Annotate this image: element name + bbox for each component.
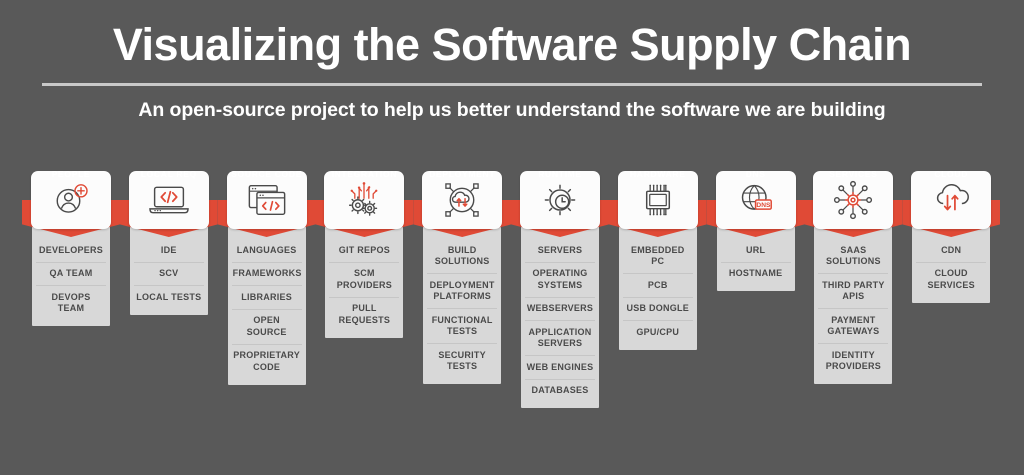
- list-item[interactable]: PROPRIETARY CODE: [232, 344, 302, 379]
- list-item[interactable]: LOCAL TESTS: [134, 285, 204, 309]
- infographic-root: Visualizing the Software Supply Chain An…: [0, 0, 1024, 475]
- gear-clock-icon: [540, 180, 580, 220]
- columns-container: DEVELOPERSQA TEAMDEVOPS TEAMPEOPLE IDESC…: [0, 160, 1024, 475]
- stage-icon-card: [813, 171, 893, 229]
- stage-icon-card: [520, 171, 600, 229]
- list-item[interactable]: SCM PROVIDERS: [329, 262, 399, 297]
- list-item[interactable]: IDE: [134, 239, 204, 262]
- list-item[interactable]: QA TEAM: [36, 262, 106, 286]
- stage-icon-card: [422, 171, 502, 229]
- stage-item-panel: SERVERSOPERATING SYSTEMSWEBSERVERSAPPLIC…: [521, 207, 599, 408]
- list-item[interactable]: IDENTITY PROVIDERS: [818, 343, 888, 378]
- cloud-deploy-icon: [441, 180, 483, 220]
- list-item[interactable]: DEVELOPERS: [36, 239, 106, 262]
- list-item[interactable]: URL: [721, 239, 791, 262]
- page-subtitle: An open-source project to help us better…: [0, 99, 1024, 122]
- list-item[interactable]: PCB: [623, 273, 693, 297]
- list-item[interactable]: LIBRARIES: [232, 285, 302, 309]
- list-item[interactable]: FUNCTIONAL TESTS: [427, 308, 497, 343]
- list-item[interactable]: GIT REPOS: [329, 239, 399, 262]
- list-item[interactable]: WEBSERVERS: [525, 297, 595, 321]
- list-item[interactable]: OPERATING SYSTEMS: [525, 262, 595, 297]
- list-item[interactable]: LANGUAGES: [232, 239, 302, 262]
- svg-text:DNS: DNS: [756, 202, 771, 209]
- stage-icon-card: [129, 171, 209, 229]
- cloud-transfer-icon: [930, 180, 972, 220]
- list-item[interactable]: BUILD SOLUTIONS: [427, 239, 497, 273]
- list-item[interactable]: WEB ENGINES: [525, 355, 595, 379]
- gears-circuit-icon: [343, 179, 385, 221]
- stage-icon-card: [324, 171, 404, 229]
- laptop-code-icon: [147, 182, 191, 218]
- stage-icon-card: [911, 171, 991, 229]
- header: Visualizing the Software Supply Chain An…: [0, 0, 1024, 122]
- list-item[interactable]: PAYMENT GATEWAYS: [818, 308, 888, 343]
- list-item[interactable]: CDN: [916, 239, 986, 262]
- stage-item-list: SERVERSOPERATING SYSTEMSWEBSERVERSAPPLIC…: [521, 207, 599, 408]
- add-person-icon: [51, 180, 91, 220]
- list-item[interactable]: SAAS SOLUTIONS: [818, 239, 888, 273]
- list-item[interactable]: EMBEDDED PC: [623, 239, 693, 273]
- title-divider: [42, 83, 982, 86]
- list-item[interactable]: SCV: [134, 262, 204, 286]
- stage-icon-card: [31, 171, 111, 229]
- code-window-icon: [246, 181, 288, 219]
- list-item[interactable]: THIRD PARTY APIS: [818, 273, 888, 308]
- list-item[interactable]: HOSTNAME: [721, 262, 791, 286]
- list-item[interactable]: DEPLOYMENT PLATFORMS: [427, 273, 497, 308]
- list-item[interactable]: DEVOPS TEAM: [36, 285, 106, 320]
- stage-icon-card: [227, 171, 307, 229]
- list-item[interactable]: CLOUD SERVICES: [916, 262, 986, 297]
- list-item[interactable]: APPLICATION SERVERS: [525, 320, 595, 355]
- list-item[interactable]: SERVERS: [525, 239, 595, 262]
- list-item[interactable]: USB DONGLE: [623, 297, 693, 321]
- page-title: Visualizing the Software Supply Chain: [0, 22, 1024, 67]
- globe-dns-icon: DNS: [735, 180, 777, 220]
- list-item[interactable]: FRAMEWORKS: [232, 262, 302, 286]
- stage-icon-card: DNS: [716, 171, 796, 229]
- list-item[interactable]: DATABASES: [525, 379, 595, 403]
- network-gear-icon: [832, 179, 874, 221]
- list-item[interactable]: SECURITY TESTS: [427, 343, 497, 378]
- list-item[interactable]: PULL REQUESTS: [329, 297, 399, 332]
- stage-icon-card: [618, 171, 698, 229]
- chip-icon: [637, 180, 679, 220]
- list-item[interactable]: GPU/CPU: [623, 320, 693, 344]
- list-item[interactable]: OPEN SOURCE: [232, 309, 302, 344]
